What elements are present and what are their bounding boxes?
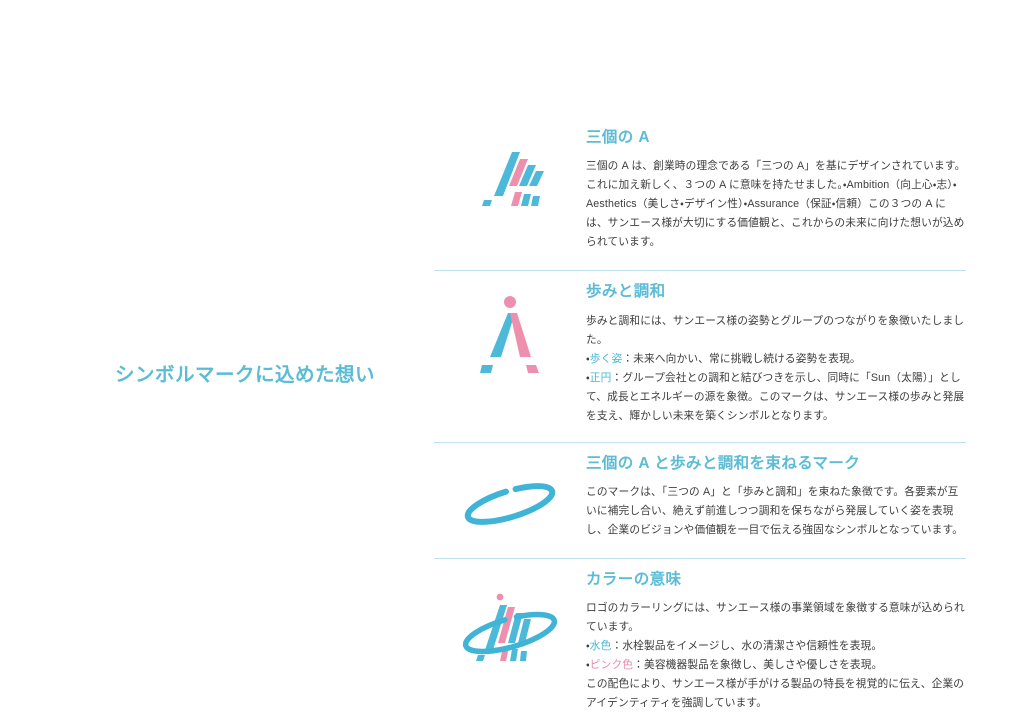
body-paragraph: このマークは、「三つの A」と「歩みと調和」を束ねた象徴です。各要素が互いに補完… xyxy=(586,483,966,540)
walking-figure-a-logo xyxy=(474,291,546,377)
section-bundle-mark: 三個の A と歩みと調和を束ねるマーク このマークは、「三つの A」と「歩みと調… xyxy=(434,443,966,558)
keyword-circle: 正円 xyxy=(590,372,612,384)
text-cell: カラーの意味 ロゴのカラーリングには、サンエース様の事業領域を象徴する意味が込め… xyxy=(586,559,966,723)
section-color-meaning: カラーの意味 ロゴのカラーリングには、サンエース様の事業領域を象徴する意味が込め… xyxy=(434,559,966,723)
keyword-pink: ピンク色 xyxy=(590,659,633,671)
page-title: シンボルマークに込めた想い xyxy=(115,362,415,388)
body-paragraph-keyword-circle: ・正円：グループ会社との調和と結びつきを示し、同時に「Sun（太陽）」として、成… xyxy=(586,369,966,426)
content-column: 三個の A 三個の A は、創業時の理念である「三つの A」を基にデザインされて… xyxy=(434,118,966,724)
section-body: 三個の A は、創業時の理念である「三つの A」を基にデザインされています。これ… xyxy=(586,157,966,252)
text-cell: 三個の A 三個の A は、創業時の理念である「三つの A」を基にデザインされて… xyxy=(586,118,966,270)
logo-cell xyxy=(434,559,586,669)
section-body: このマークは、「三つの A」と「歩みと調和」を束ねた象徴です。各要素が互いに補完… xyxy=(586,483,966,540)
section-body: 歩みと調和には、サンエース様の姿勢とグループのつながりを象徴いたしました。 ・歩… xyxy=(586,312,966,426)
body-paragraph: 歩みと調和には、サンエース様の姿勢とグループのつながりを象徴いたしました。 xyxy=(586,312,966,350)
combined-symbol-logo xyxy=(456,581,564,669)
section-heading: 三個の A と歩みと調和を束ねるマーク xyxy=(586,454,966,474)
striped-a-logo xyxy=(474,140,546,212)
section-heading: 歩みと調和 xyxy=(586,282,966,302)
keyword-walk: 歩く姿 xyxy=(590,353,623,365)
keyword-light-blue: 水色 xyxy=(590,640,612,652)
body-paragraph: 三個の A は、創業時の理念である「三つの A」を基にデザインされています。これ… xyxy=(586,157,966,252)
body-paragraph: ロゴのカラーリングには、サンエース様の事業領域を象徴する意味が込められています。 xyxy=(586,599,966,637)
text-cell: 歩みと調和 歩みと調和には、サンエース様の姿勢とグループのつながりを象徴いたしま… xyxy=(586,271,966,441)
section-heading: 三個の A xyxy=(586,128,966,148)
section-body: ロゴのカラーリングには、サンエース様の事業領域を象徴する意味が込められています。… xyxy=(586,599,966,713)
logo-cell xyxy=(434,443,586,529)
section-heading: カラーの意味 xyxy=(586,570,966,590)
body-paragraph: この配色により、サンエース様が手がける製品の特長を視覚的に伝え、企業のアイデンテ… xyxy=(586,675,966,713)
section-three-a: 三個の A 三個の A は、創業時の理念である「三つの A」を基にデザインされて… xyxy=(434,118,966,270)
ellipse-ring-logo xyxy=(460,479,560,529)
body-paragraph-keyword-walk: ・歩く姿：未来へ向かい、常に挑戦し続ける姿勢を表現。 xyxy=(586,350,966,369)
section-walk-harmony: 歩みと調和 歩みと調和には、サンエース様の姿勢とグループのつながりを象徴いたしま… xyxy=(434,271,966,441)
body-paragraph-keyword-cyan: ・水色：水栓製品をイメージし、水の清潔さや信頼性を表現。 xyxy=(586,637,966,656)
text-cell: 三個の A と歩みと調和を束ねるマーク このマークは、「三つの A」と「歩みと調… xyxy=(586,443,966,558)
body-paragraph-keyword-pink: ・ピンク色：美容機器製品を象徴し、美しさや優しさを表現。 xyxy=(586,656,966,675)
logo-cell xyxy=(434,271,586,377)
logo-cell xyxy=(434,118,586,212)
